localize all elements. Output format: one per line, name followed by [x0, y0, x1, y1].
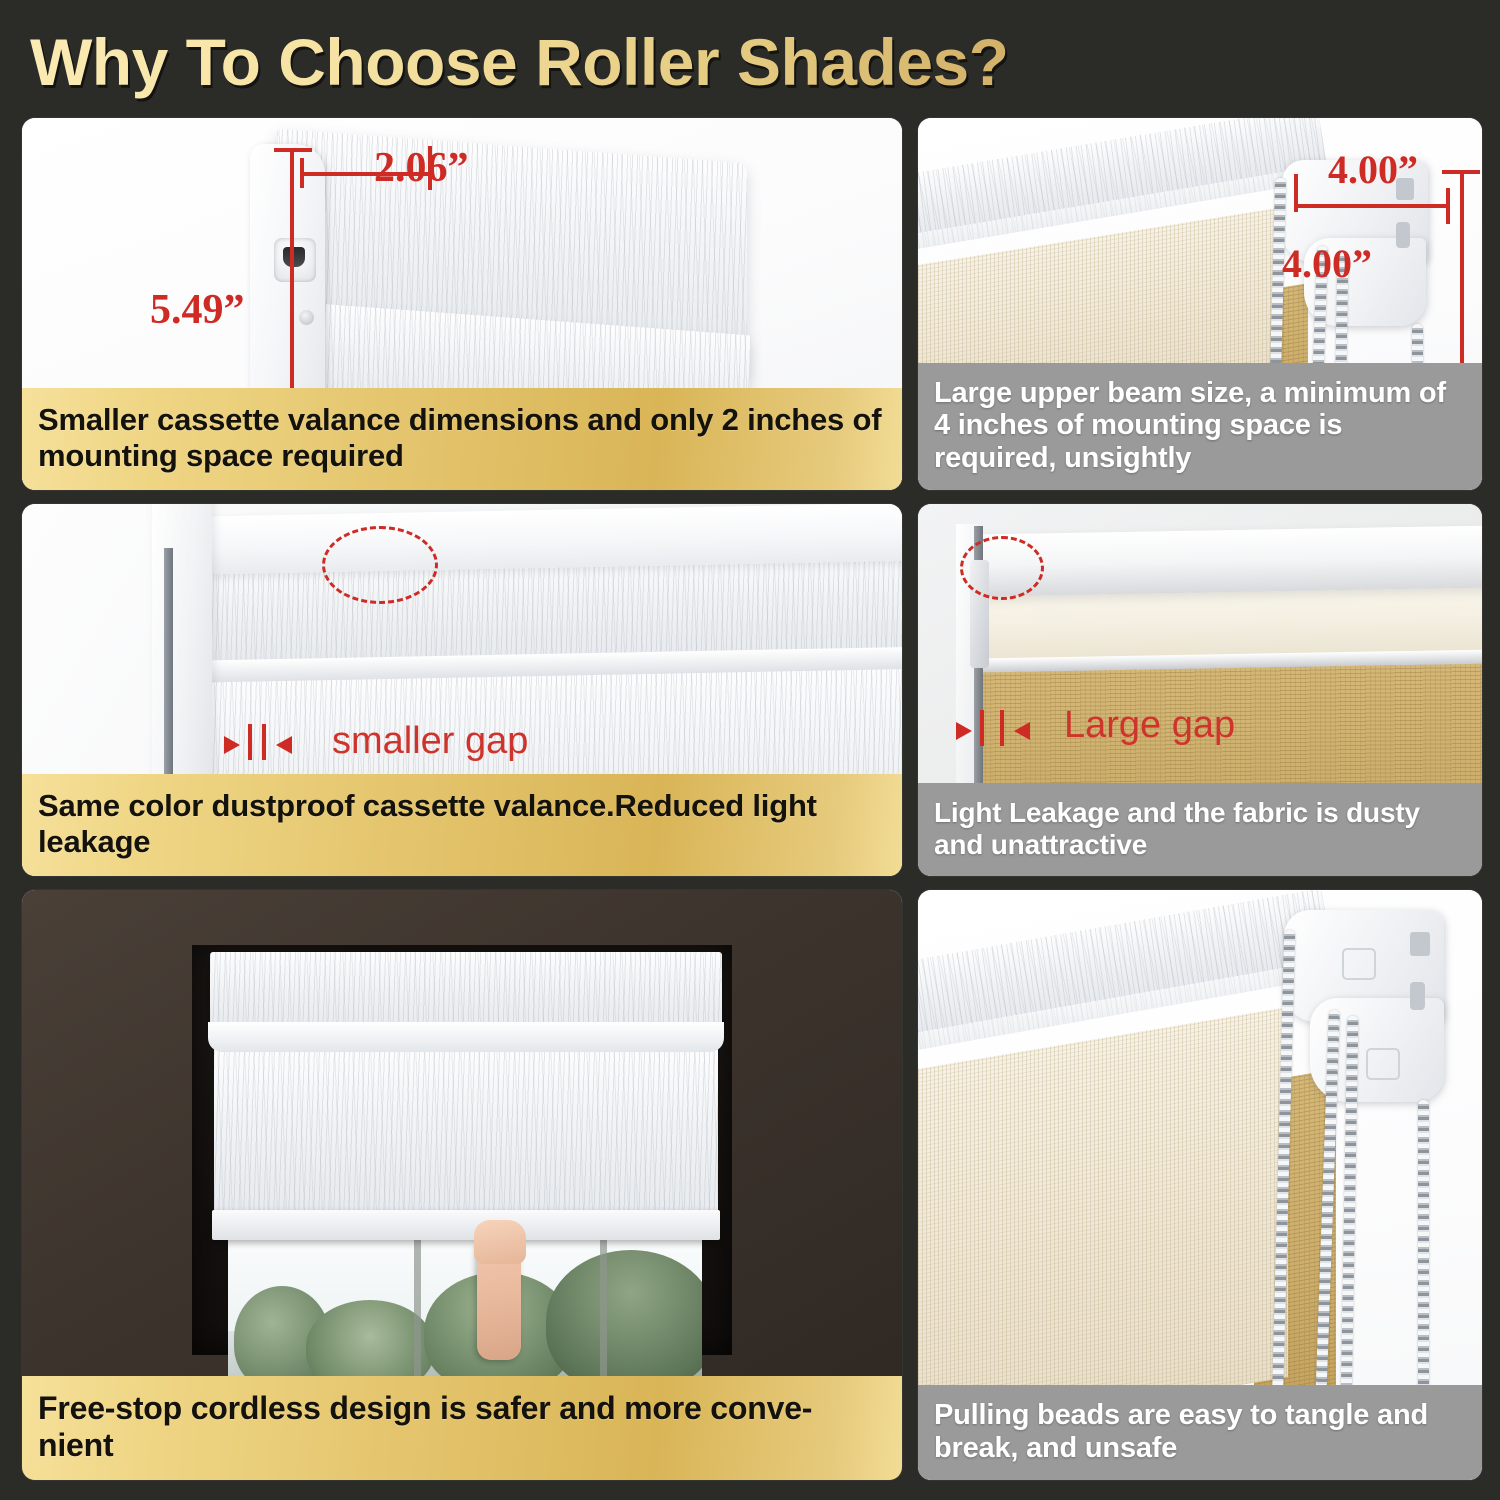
shade-fabric — [918, 1007, 1288, 1443]
panel-row-1: 2.06” 5.49” Smaller cassette valance dim… — [22, 118, 1482, 490]
cassette-clutch-knob — [274, 238, 316, 282]
beam-width-tick-left — [1294, 174, 1298, 212]
beam-height-tick-top — [1442, 170, 1480, 174]
page-title-container: Why To Choose Roller Shades? — [30, 18, 1470, 106]
infographic-page: Why To Choose Roller Shades? — [0, 0, 1500, 1500]
panel-4-wrapper: Large gap Light Leakage and the fabric i… — [918, 504, 1482, 876]
bracket-slot-2 — [1410, 982, 1425, 1010]
shade-panel — [214, 1048, 718, 1216]
hand-fingers — [474, 1220, 526, 1264]
panel-row-2: smaller gap Same color dustproof cassett… — [22, 504, 1482, 876]
gap-arrow-right-icon — [276, 736, 292, 754]
beam-width-tick-right — [1446, 188, 1450, 224]
panel-1-caption: Smaller cassette valance dimensions and … — [22, 388, 902, 490]
cassette-screw — [299, 310, 314, 325]
gap-arrow-right-icon — [1014, 722, 1030, 740]
panel-smaller-cassette: 2.06” 5.49” Smaller cassette valance dim… — [22, 118, 902, 490]
cassette-valance — [210, 952, 722, 1030]
panel-3-caption: Same color dustproof cassette valance.Re… — [22, 774, 902, 876]
beam-height-line — [1460, 170, 1464, 370]
beam-width-line — [1296, 204, 1450, 208]
bead-chain-4 — [1418, 1100, 1429, 1406]
highlight-circle-icon — [322, 526, 438, 604]
gap-mark-a — [248, 724, 252, 760]
roller-head-rail — [976, 525, 1482, 596]
beam-width-label: 4.00” — [1328, 146, 1418, 193]
large-gap-label: Large gap — [1064, 704, 1235, 747]
panel-cordless-design: Free-stop cordless design is safer and m… — [22, 890, 902, 1480]
bracket-slot-1 — [1410, 932, 1430, 956]
panel-light-leakage: Large gap Light Leakage and the fabric i… — [918, 504, 1482, 876]
width-tick-left — [300, 158, 304, 188]
panel-5-wrapper: Free-stop cordless design is safer and m… — [22, 890, 902, 1480]
panel-6-wrapper: Pulling beads are easy to tangle and bre… — [918, 890, 1482, 1480]
gap-arrow-left-icon — [956, 722, 972, 740]
bracket-emboss-2 — [1366, 1048, 1400, 1080]
panel-2-caption: Large upper beam size, a minimum of 4 in… — [918, 363, 1482, 490]
panel-dustproof-valance: smaller gap Same color dustproof cassett… — [22, 504, 902, 876]
page-title: Why To Choose Roller Shades? — [30, 18, 1470, 106]
panel-5-caption: Free-stop cordless design is safer and m… — [22, 1376, 902, 1480]
height-dimension-label: 5.49” — [150, 286, 245, 334]
panel-pulling-beads: Pulling beads are easy to tangle and bre… — [918, 890, 1482, 1480]
window-mullion-right — [600, 1238, 607, 1388]
window-glass — [228, 1238, 702, 1388]
highlight-circle-icon — [960, 536, 1044, 600]
panel-2-wrapper: 4.00” 4.00” Large upper beam size, a min… — [918, 118, 1482, 490]
gap-arrow-left-icon — [224, 736, 240, 754]
panel-6-caption: Pulling beads are easy to tangle and bre… — [918, 1385, 1482, 1480]
gap-mark-a — [980, 710, 984, 746]
tree-4 — [546, 1250, 702, 1388]
gap-mark-b — [262, 724, 266, 760]
shade-bottom-rail — [212, 1210, 720, 1240]
bracket-slot-2 — [1396, 222, 1410, 248]
height-tick-top — [274, 148, 312, 152]
panel-1-wrapper: 2.06” 5.49” Smaller cassette valance dim… — [22, 118, 902, 490]
beam-height-label: 4.00” — [1282, 240, 1372, 287]
window-side-frame — [152, 504, 212, 796]
smaller-gap-label: smaller gap — [332, 720, 528, 763]
panel-3-wrapper: smaller gap Same color dustproof cassett… — [22, 504, 902, 876]
panel-4-caption: Light Leakage and the fabric is dusty an… — [918, 783, 1482, 876]
gap-mark-b — [1000, 710, 1004, 746]
width-dimension-label: 2.06” — [374, 144, 469, 192]
panel-large-beam: 4.00” 4.00” Large upper beam size, a min… — [918, 118, 1482, 490]
valance-lip — [208, 1022, 724, 1052]
side-gap-strip — [164, 548, 173, 804]
window-mullion — [414, 1238, 421, 1388]
bracket-emboss-1 — [1342, 948, 1376, 980]
panel-grid: 2.06” 5.49” Smaller cassette valance dim… — [22, 118, 1482, 1480]
panel-row-3: Free-stop cordless design is safer and m… — [22, 890, 1482, 1480]
